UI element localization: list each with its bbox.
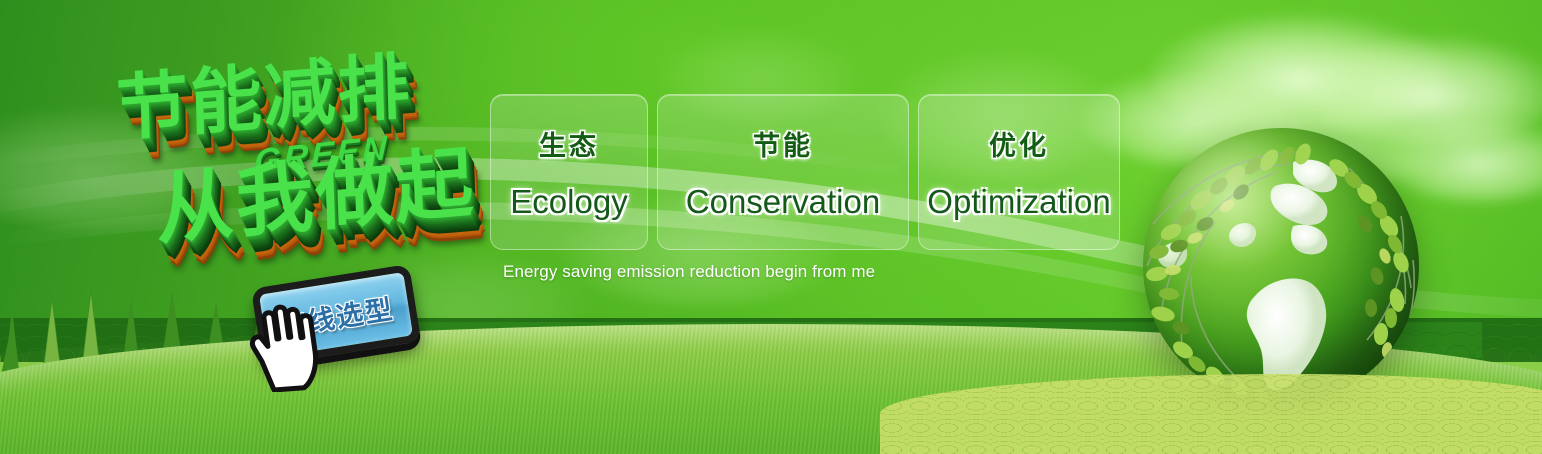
banner-tagline: Energy saving emission reduction begin f… bbox=[503, 262, 875, 282]
green-energy-banner: 节能减排 GREEN 从我做起 在线选型 生态 Ecology 节能 Conse… bbox=[0, 0, 1542, 454]
hand-pointer-icon bbox=[242, 300, 328, 392]
cloud-icon bbox=[1150, 14, 1450, 134]
feature-card-conservation[interactable]: 节能 Conservation bbox=[657, 94, 909, 250]
feature-card-en-label: Conservation bbox=[686, 183, 880, 221]
feature-card-ecology[interactable]: 生态 Ecology bbox=[490, 94, 648, 250]
feature-card-cn-label: 生态 bbox=[539, 124, 599, 163]
feature-card-cn-label: 节能 bbox=[753, 124, 813, 163]
feature-card-en-label: Ecology bbox=[510, 183, 627, 221]
feature-card-list: 生态 Ecology 节能 Conservation 优化 Optimizati… bbox=[490, 94, 1120, 250]
globe-sphere bbox=[1143, 128, 1419, 404]
feature-card-optimization[interactable]: 优化 Optimization bbox=[918, 94, 1120, 250]
feature-card-en-label: Optimization bbox=[927, 183, 1110, 221]
feature-card-cn-label: 优化 bbox=[989, 124, 1049, 163]
headline-artwork: 节能减排 GREEN 从我做起 bbox=[96, 44, 496, 269]
leafy-globe-icon bbox=[1143, 128, 1419, 404]
